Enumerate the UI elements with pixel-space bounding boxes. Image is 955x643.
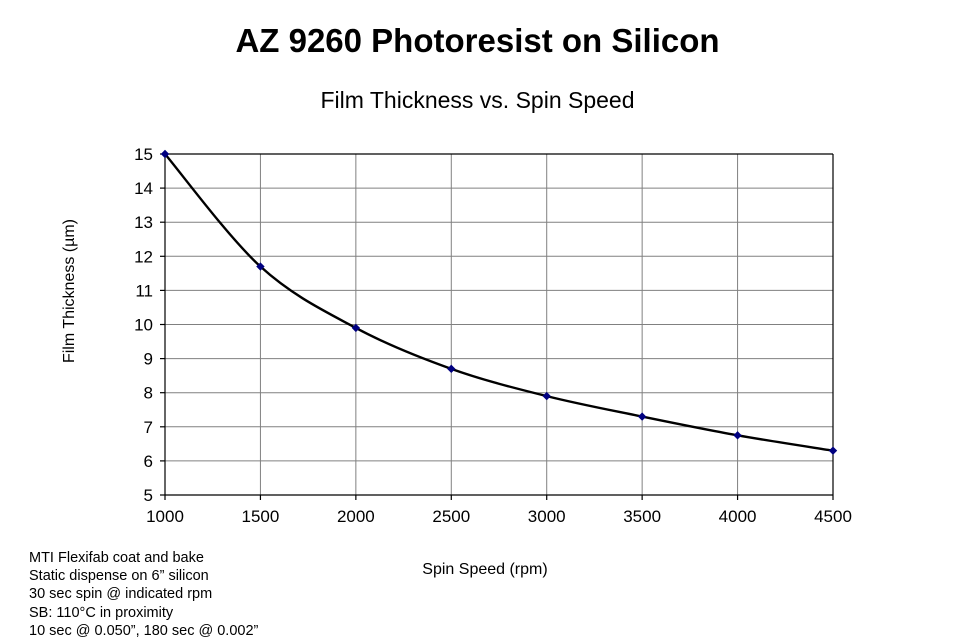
x-tick-label: 1500 — [242, 507, 280, 526]
y-tick-label: 14 — [134, 179, 153, 198]
data-point-marker — [447, 365, 455, 373]
plot-svg: 56789101112131415 1000150020002500300035… — [0, 0, 955, 643]
note-line: 30 sec spin @ indicated rpm — [29, 585, 258, 603]
y-tick-labels: 56789101112131415 — [134, 145, 153, 505]
grid-lines-horizontal — [165, 188, 833, 461]
x-tick-label: 2500 — [432, 507, 470, 526]
y-tick-label: 9 — [144, 350, 153, 369]
axis-ticks — [160, 154, 833, 500]
x-axis-title: Spin Speed (rpm) — [330, 561, 640, 579]
x-tick-label: 4000 — [719, 507, 757, 526]
x-tick-label: 4500 — [814, 507, 852, 526]
y-tick-label: 8 — [144, 384, 153, 403]
data-point-marker — [638, 412, 646, 420]
experiment-notes: MTI Flexifab coat and bake Static dispen… — [29, 549, 258, 640]
data-point-marker — [829, 446, 837, 454]
x-tick-label: 3000 — [528, 507, 566, 526]
data-point-marker — [733, 431, 741, 439]
note-line: Static dispense on 6” silicon — [29, 567, 258, 585]
note-line: MTI Flexifab coat and bake — [29, 549, 258, 567]
y-tick-label: 15 — [134, 145, 153, 164]
note-line: SB: 110°C in proximity — [29, 604, 258, 622]
x-tick-label: 2000 — [337, 507, 375, 526]
x-tick-labels: 10001500200025003000350040004500 — [146, 507, 852, 526]
y-tick-label: 12 — [134, 247, 153, 266]
x-tick-label: 3500 — [623, 507, 661, 526]
y-tick-label: 13 — [134, 213, 153, 232]
data-curve — [165, 154, 833, 451]
plot-area: 56789101112131415 1000150020002500300035… — [0, 0, 955, 643]
y-tick-label: 10 — [134, 316, 153, 335]
series-line — [165, 154, 833, 451]
note-line: 10 sec @ 0.050”, 180 sec @ 0.002” — [29, 622, 258, 640]
x-tick-label: 1000 — [146, 507, 184, 526]
y-tick-label: 7 — [144, 418, 153, 437]
data-markers — [161, 150, 837, 455]
y-axis-title: Film Thickness (µm) — [61, 181, 79, 401]
y-tick-label: 5 — [144, 486, 153, 505]
y-tick-label: 6 — [144, 452, 153, 471]
y-tick-label: 11 — [135, 281, 153, 300]
